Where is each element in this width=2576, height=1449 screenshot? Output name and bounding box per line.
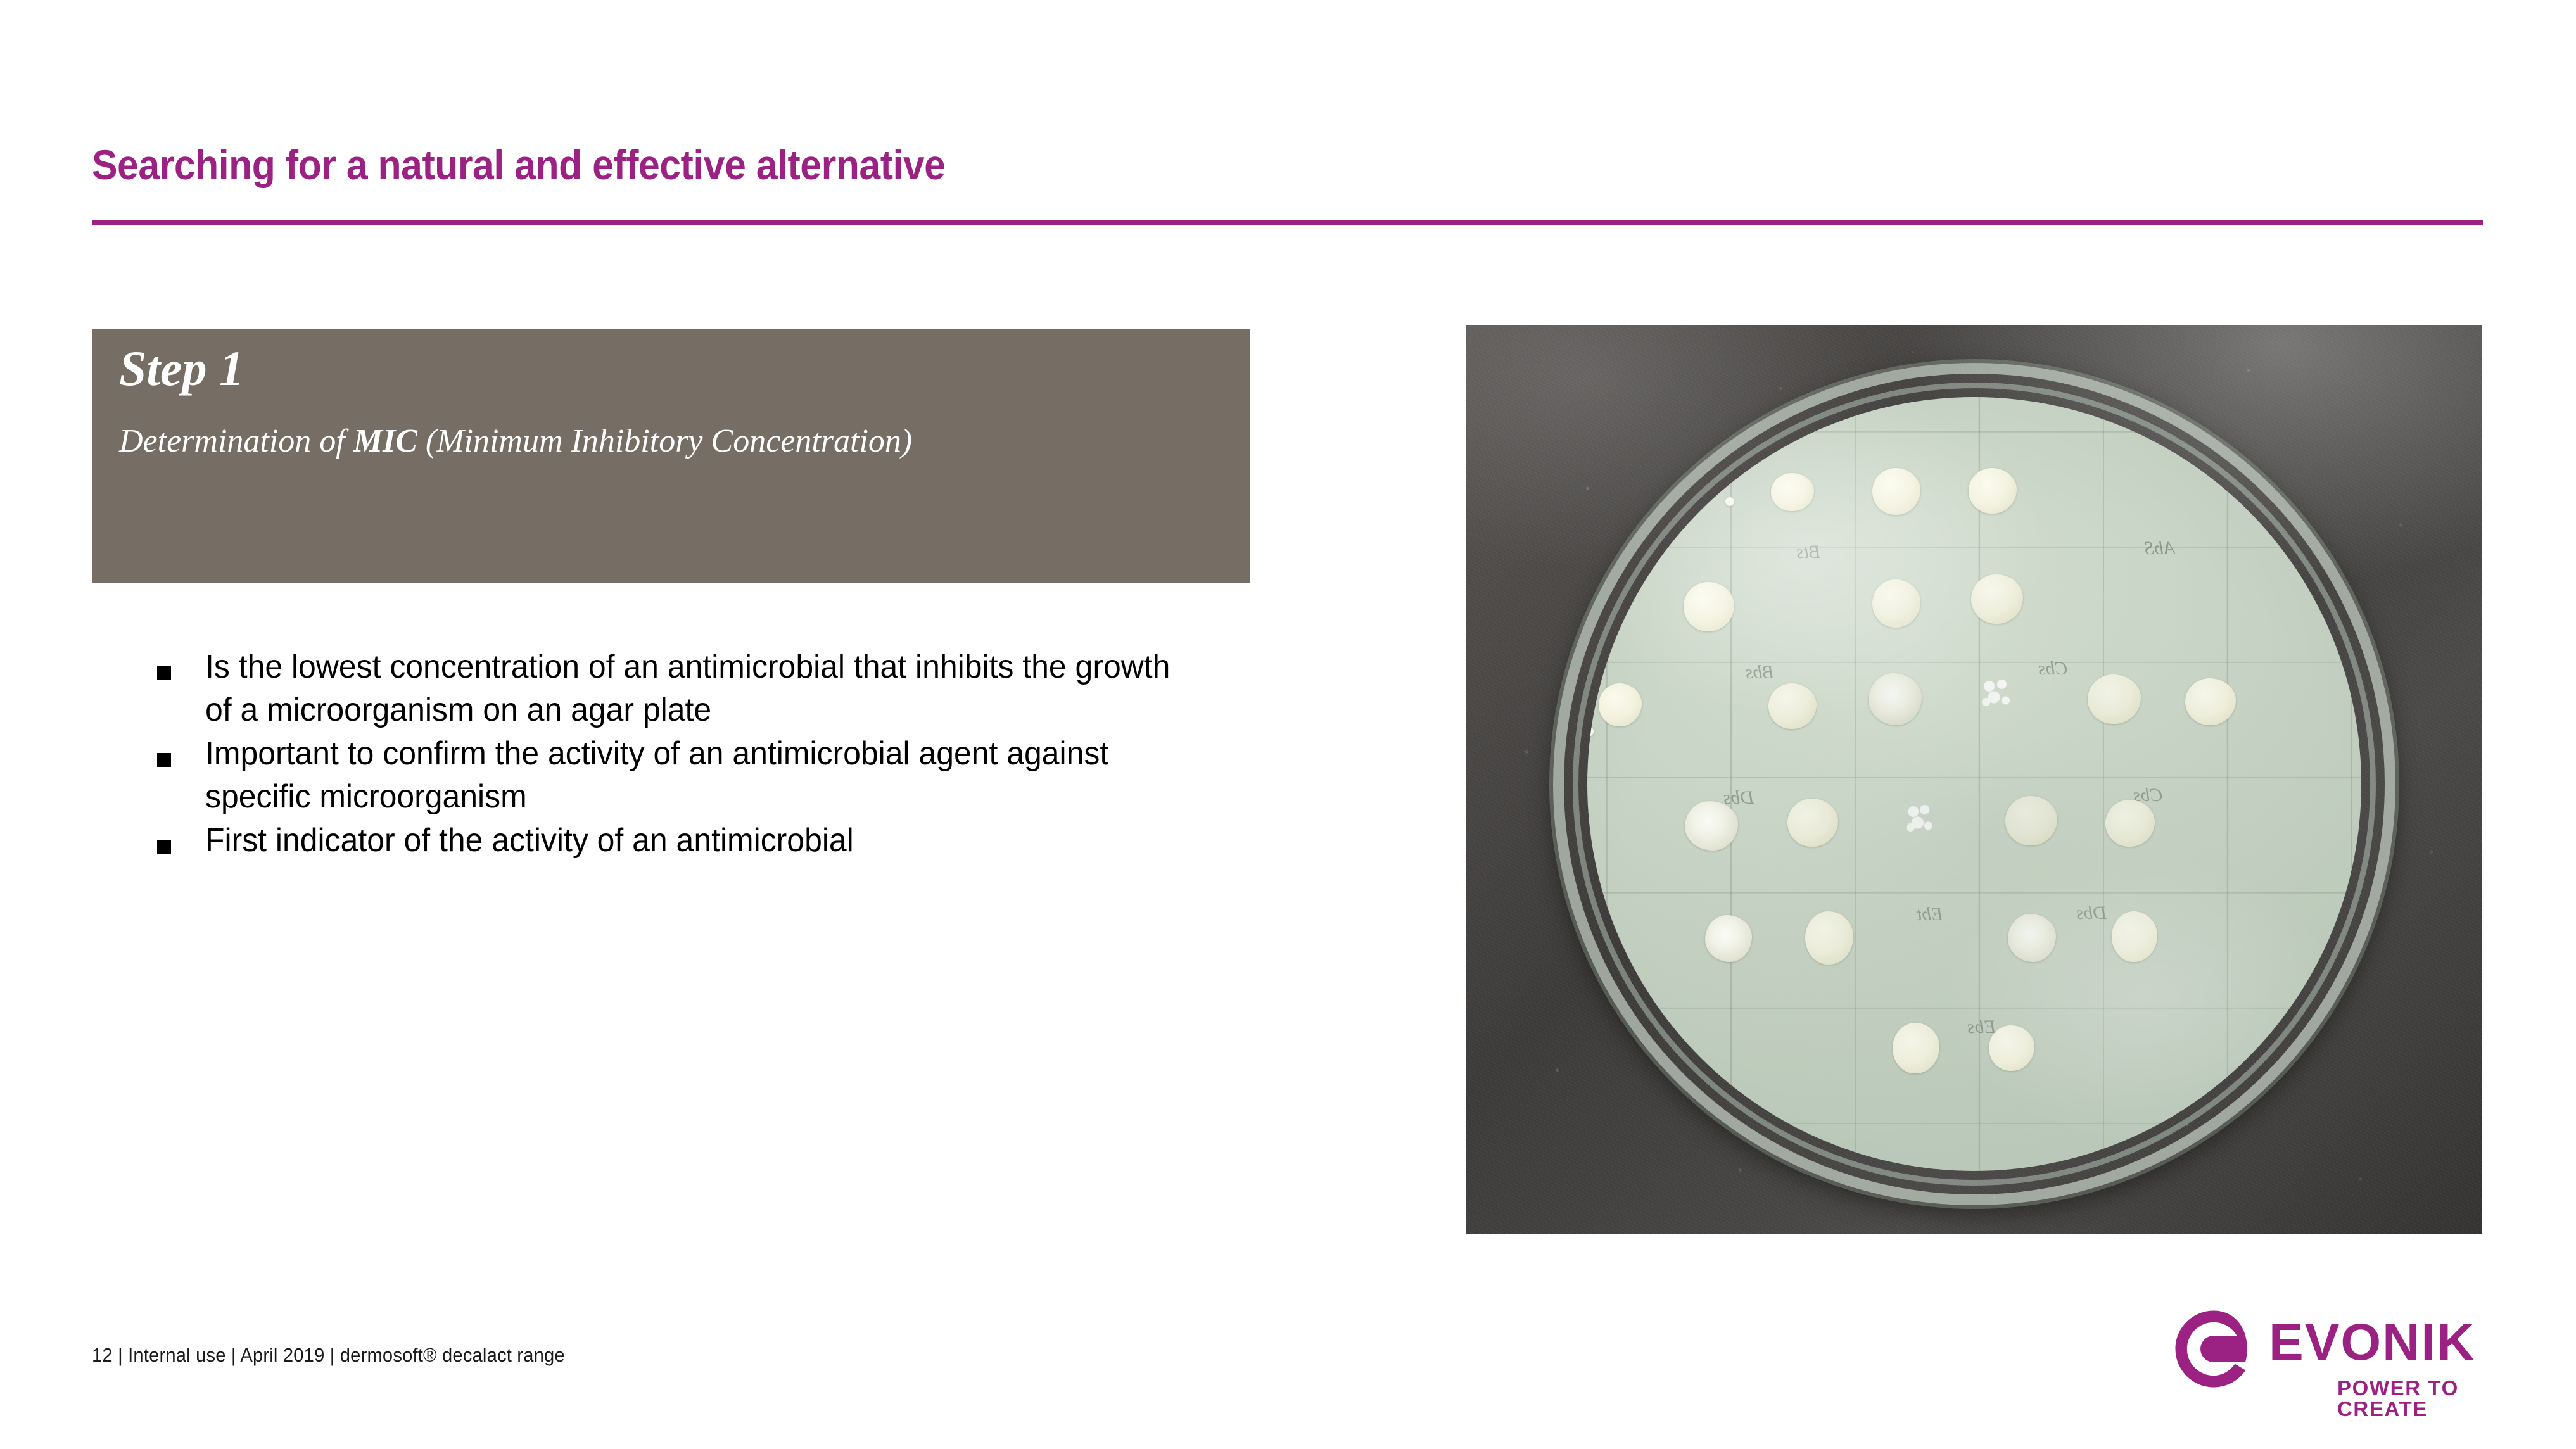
bullet-text: Is the lowest concentration of an antimi… [205,646,1193,731]
step-subtitle-prefix: Determination of [119,423,353,459]
list-item: First indicator of the activity of an an… [157,819,1234,863]
step-subtitle: Determination of MIC (Minimum Inhibitory… [119,422,1183,461]
square-bullet-icon [157,666,171,680]
evonik-logo: EVONIK POWER TO CREATE [2174,1307,2503,1414]
step-subtitle-mic-abbrev: MIC [353,423,417,459]
slide-canvas: Searching for a natural and effective al… [0,0,2576,1449]
agar-surface-sheen [1587,397,2361,1171]
step-callout-box: Step 1 Determination of MIC (Minimum Inh… [92,329,1250,583]
title-underline-rule [92,220,2483,225]
evonik-wordmark: EVONIK [2269,1317,2475,1369]
square-bullet-icon [157,753,171,767]
step-heading: Step 1 [119,344,244,393]
evonik-tagline: POWER TO CREATE [2337,1377,2503,1419]
bullet-list: Is the lowest concentration of an antimi… [157,646,1234,864]
list-item: Important to confirm the activity of an … [157,733,1234,818]
list-item: Is the lowest concentration of an antimi… [157,646,1234,731]
agar-medium: AbS Bts Bbs Cbs Dbs Cbs Ebt Dbs Ebs [1587,397,2361,1171]
petri-dish-photo: AbS Bts Bbs Cbs Dbs Cbs Ebt Dbs Ebs [1466,325,2482,1234]
evonik-circle-e-icon [2174,1309,2254,1389]
step-subtitle-suffix: (Minimum Inhibitory Concentration) [417,423,912,459]
page-title: Searching for a natural and effective al… [92,141,945,189]
bullet-text: Important to confirm the activity of an … [205,733,1193,818]
square-bullet-icon [157,840,171,854]
footer-info: 12 | Internal use | April 2019 | dermoso… [92,1344,565,1367]
bullet-text: First indicator of the activity of an an… [205,819,1193,863]
